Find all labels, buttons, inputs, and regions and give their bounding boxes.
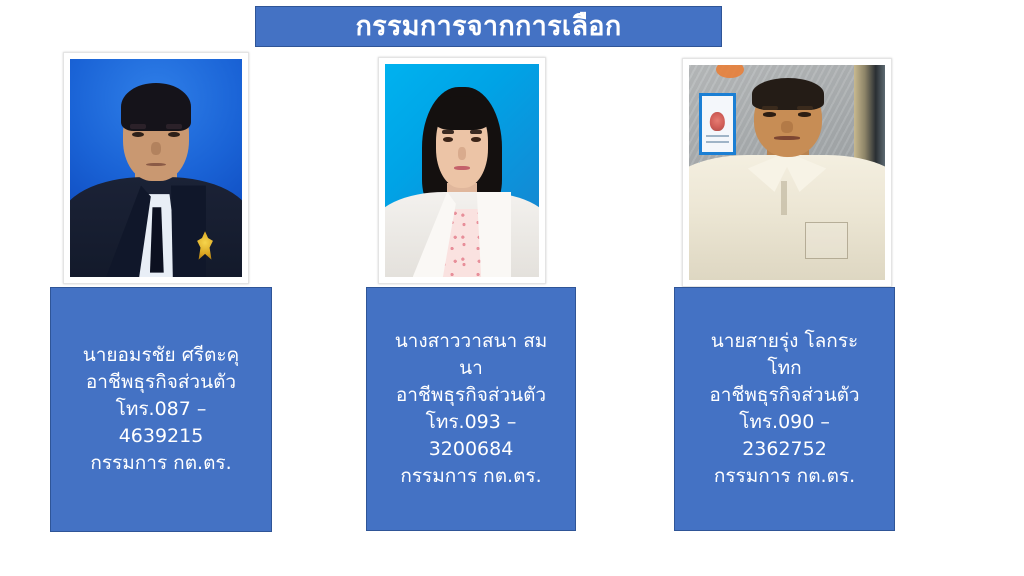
- certificate-text-line: [706, 135, 728, 137]
- photo-hair-front: [433, 96, 492, 130]
- member-phone-1-line1: โทร.087 –: [55, 396, 267, 423]
- member-photo-3: [689, 65, 885, 280]
- member-name-2-line1: นางสาววาสนา สม: [371, 328, 571, 355]
- member-phone-2-line2: 3200684: [371, 436, 571, 463]
- member-photo-1: [70, 59, 242, 277]
- member-phone-2-line1: โทร.093 –: [371, 409, 571, 436]
- photo-certificate-upper: [699, 93, 736, 155]
- member-caption-1: นายอมรชัย ศรีตะคุ อาชีพธุรกิจส่วนตัว โทร…: [50, 287, 272, 532]
- member-name-3-line2: โทก: [679, 355, 890, 382]
- member-photo-frame-1: [63, 52, 249, 284]
- member-phone-1-line2: 4639215: [55, 423, 267, 450]
- slide-title-banner: กรรมการจากการเลือก: [255, 6, 722, 47]
- member-occupation-3: อาชีพธุรกิจส่วนตัว: [679, 382, 890, 409]
- certificate-text-line: [706, 141, 728, 143]
- member-role-2: กรรมการ กต.ตร.: [371, 463, 571, 490]
- photo-mouth: [774, 136, 799, 140]
- member-occupation-2: อาชีพธุรกิจส่วนตัว: [371, 382, 571, 409]
- member-name-1: นายอมรชัย ศรีตะคุ: [55, 342, 267, 369]
- member-occupation-1: อาชีพธุรกิจส่วนตัว: [55, 369, 267, 396]
- certificate-seal-icon: [710, 112, 724, 131]
- page-title: กรรมการจากการเลือก: [356, 13, 622, 40]
- photo-eyebrow-left: [130, 124, 145, 129]
- photo-eyebrow-right: [797, 106, 814, 110]
- photo-eyebrow-left: [442, 130, 454, 134]
- photo-nose: [151, 142, 161, 155]
- member-role-3: กรรมการ กต.ตร.: [679, 463, 890, 490]
- photo-shirt-pocket: [805, 222, 848, 259]
- member-photo-2: [385, 64, 539, 277]
- member-caption-3: นายสายรุ่ง โลกระ โทก อาชีพธุรกิจส่วนตัว …: [674, 287, 895, 531]
- photo-nose: [458, 147, 466, 160]
- photo-eyebrow-right: [166, 124, 181, 129]
- member-phone-3-line1: โทร.090 –: [679, 409, 890, 436]
- photo-polo-shirt: [689, 155, 885, 280]
- member-photo-frame-2: [378, 57, 546, 284]
- member-caption-2: นางสาววาสนา สม นา อาชีพธุรกิจส่วนตัว โทร…: [366, 287, 576, 531]
- photo-eyebrow-right: [470, 130, 482, 134]
- photo-eye-left: [763, 112, 777, 116]
- member-phone-3-line2: 2362752: [679, 436, 890, 463]
- member-photo-frame-3: [682, 58, 892, 287]
- photo-shirt-placket: [781, 181, 787, 215]
- member-name-3-line1: นายสายรุ่ง โลกระ: [679, 328, 890, 355]
- member-name-2-line2: นา: [371, 355, 571, 382]
- photo-nose: [781, 121, 793, 133]
- member-role-1: กรรมการ กต.ตร.: [55, 450, 267, 477]
- photo-eyebrow-left: [762, 106, 779, 110]
- photo-eye-right: [798, 112, 812, 116]
